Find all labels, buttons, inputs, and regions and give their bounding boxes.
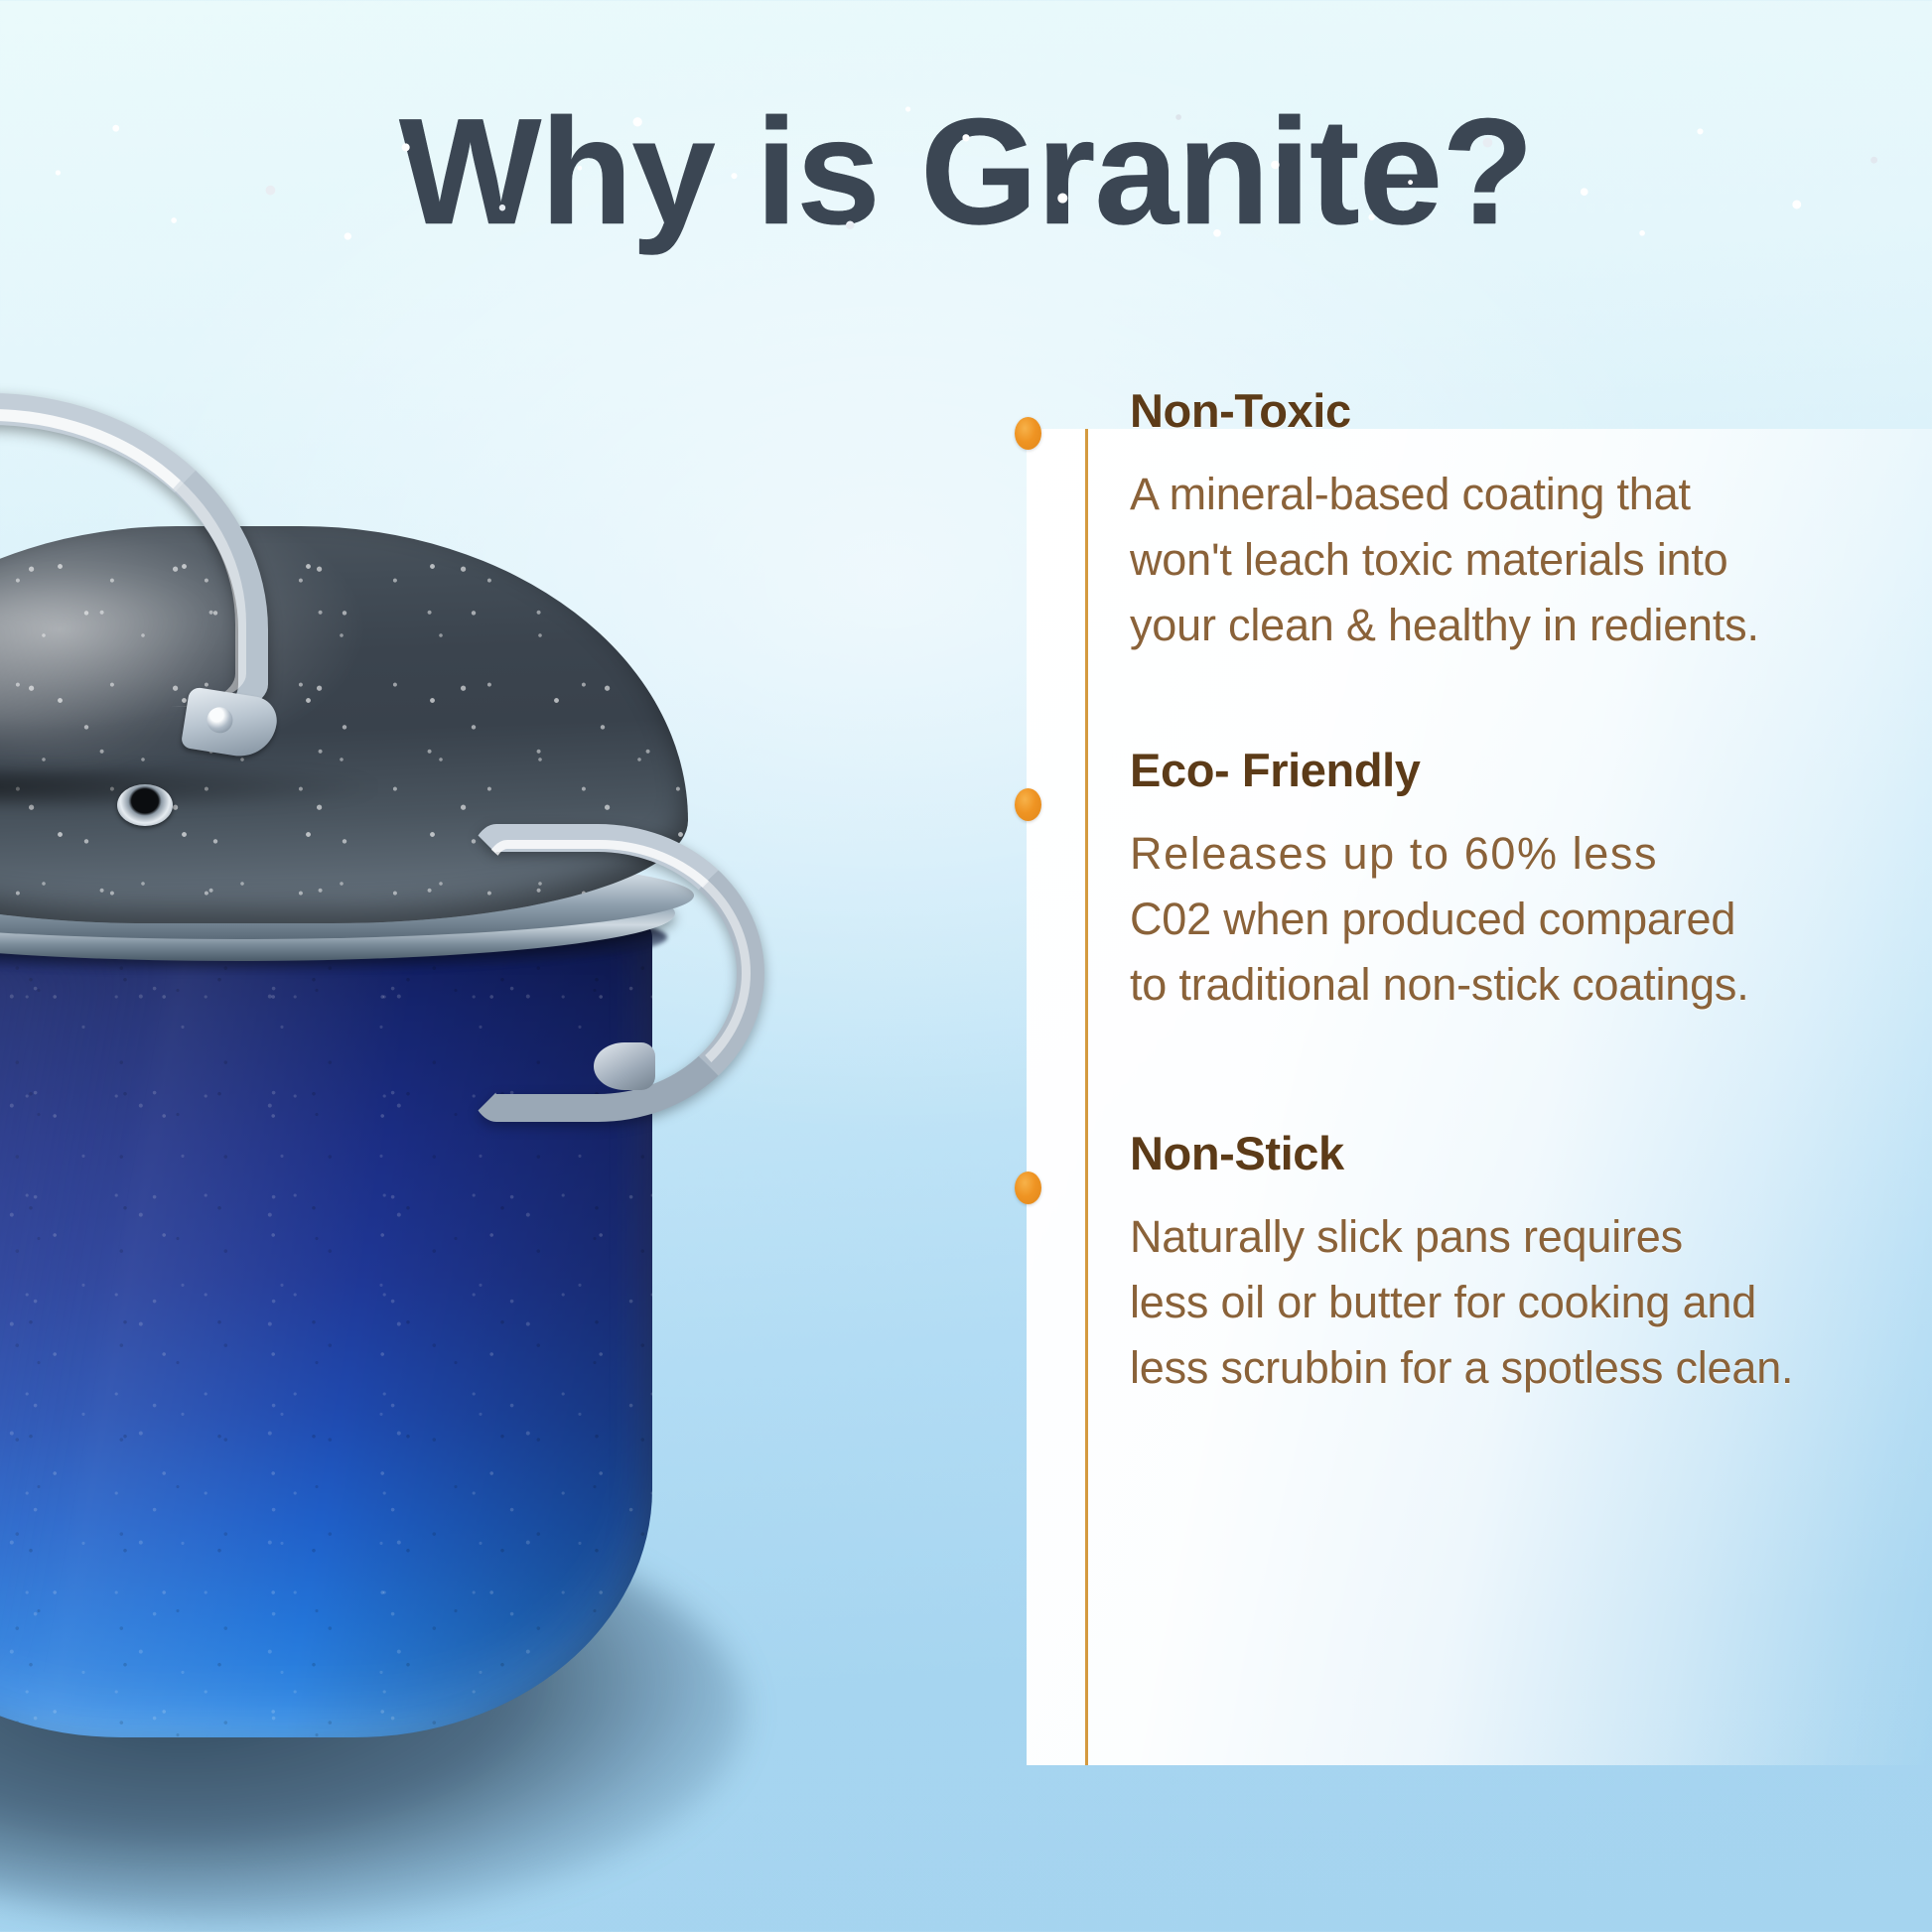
feature-title-non-stick: Non-Stick xyxy=(1130,1128,1932,1180)
feature-body-line: C02 when produced compared xyxy=(1130,887,1932,952)
feature-body-line: to traditional non-stick coatings. xyxy=(1130,952,1932,1018)
feature-title-eco-friendly: Eco- Friendly xyxy=(1130,745,1932,797)
lid-steam-vent-icon xyxy=(117,784,173,826)
feature-body-line: A mineral-based coating that xyxy=(1130,462,1932,527)
timeline-line xyxy=(1085,429,1088,1765)
feature-body-eco-friendly: Releases up to 60% less C02 when produce… xyxy=(1130,821,1932,1018)
feature-body-line: your clean & healthy in redients. xyxy=(1130,593,1932,658)
timeline-dot-non-toxic xyxy=(1015,417,1041,450)
feature-body-line: less scrubbin for a spotless clean. xyxy=(1130,1335,1932,1401)
feature-body-line: Naturally slick pans requires xyxy=(1130,1204,1932,1270)
feature-item-eco-friendly: Eco- Friendly Releases up to 60% less C0… xyxy=(1130,745,1932,1018)
lid-handle-gloss xyxy=(0,409,246,707)
feature-item-non-toxic: Non-Toxic A mineral-based coating that w… xyxy=(1130,385,1932,658)
feature-body-line: won't leach toxic materials into xyxy=(1130,527,1932,593)
product-image-cookware-pot xyxy=(0,357,844,1827)
page-title-container: Why is Granite? xyxy=(0,93,1932,252)
feature-body-non-stick: Naturally slick pans requires less oil o… xyxy=(1130,1204,1932,1401)
feature-item-non-stick: Non-Stick Naturally slick pans requires … xyxy=(1130,1128,1932,1401)
timeline-dot-non-stick xyxy=(1015,1172,1041,1204)
feature-body-line: less oil or butter for cooking and xyxy=(1130,1270,1932,1335)
feature-title-non-toxic: Non-Toxic xyxy=(1130,385,1932,438)
feature-body-non-toxic: A mineral-based coating that won't leach… xyxy=(1130,462,1932,658)
timeline-dot-eco-friendly xyxy=(1015,788,1041,821)
page-title: Why is Granite? xyxy=(399,93,1533,252)
pot-side-handle-mount xyxy=(594,1042,655,1090)
feature-body-line: Releases up to 60% less xyxy=(1130,821,1932,887)
feature-panel: Non-Toxic A mineral-based coating that w… xyxy=(1027,429,1932,1765)
